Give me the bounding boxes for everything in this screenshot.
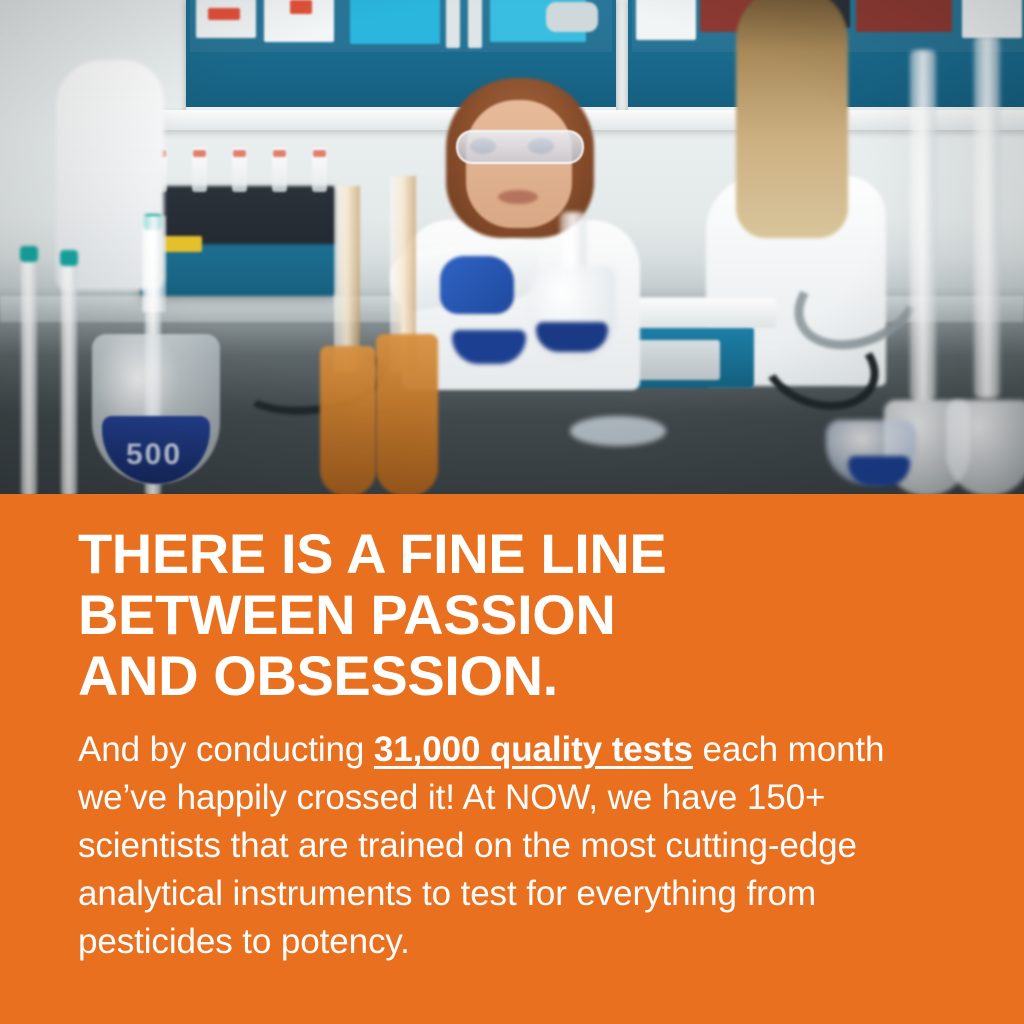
flask-volume-label: 500: [106, 438, 202, 472]
volumetric-flask-500: 500: [92, 300, 220, 488]
pipette-cap: [60, 250, 78, 266]
shelf-rod: [446, 0, 460, 48]
amber-flask-group: [318, 176, 448, 494]
headline-line-3: AND OBSESSION.: [78, 646, 946, 707]
body-copy: And by conducting 31,000 quality tests e…: [78, 726, 946, 966]
headline: THERE IS A FINE LINE BETWEEN PASSION AND…: [78, 524, 946, 706]
pipette: [60, 250, 78, 494]
blue-sample-liquid: [848, 456, 910, 486]
flask-neck: [334, 186, 360, 372]
petri-dish: [570, 416, 666, 446]
flask-neck: [974, 36, 1000, 398]
shelf-label: [290, 0, 312, 14]
headline-line-1: THERE IS A FINE LINE: [78, 524, 946, 585]
pipette-body: [61, 250, 77, 494]
hair: [736, 0, 848, 238]
shelf-rod: [468, 0, 482, 48]
blue-sample-liquid: [452, 330, 526, 364]
shelf-bottle: [350, 0, 440, 44]
pipette: [20, 246, 38, 494]
test-tube: [232, 148, 247, 192]
promo-card: 500 THERE IS A FINE LINE BETWEEN PASSION: [0, 0, 1024, 1024]
flask-neck: [910, 50, 936, 400]
blue-sample-liquid: [536, 322, 608, 352]
body-before: And by conducting: [78, 730, 374, 769]
pipette-body: [21, 246, 37, 494]
lab-photo: 500: [0, 0, 1024, 494]
amber-flask: [376, 334, 438, 494]
test-tube: [272, 148, 287, 192]
face: [466, 100, 572, 228]
flask-bulb: [946, 400, 1024, 494]
shelf-jar: [546, 2, 598, 32]
cabinet-shelf-left: [190, 0, 612, 52]
shelf-label: [208, 8, 240, 20]
amber-flask: [320, 346, 376, 494]
shelf-box: [636, 0, 696, 40]
quality-tests-emphasis: 31,000 quality tests: [374, 730, 693, 769]
orange-message-panel: THERE IS A FINE LINE BETWEEN PASSION AND…: [0, 494, 1024, 1024]
test-tube-rack: [152, 148, 330, 192]
safety-goggles-icon: [456, 130, 584, 164]
flask-neck: [142, 216, 166, 312]
volumetric-flask: [946, 36, 1024, 494]
test-tube: [192, 148, 207, 192]
headline-line-2: BETWEEN PASSION: [78, 585, 946, 646]
nitrile-glove: [440, 256, 514, 314]
pipette-cap: [20, 246, 38, 262]
mouth: [498, 190, 538, 204]
shelf-box: [962, 0, 1022, 38]
